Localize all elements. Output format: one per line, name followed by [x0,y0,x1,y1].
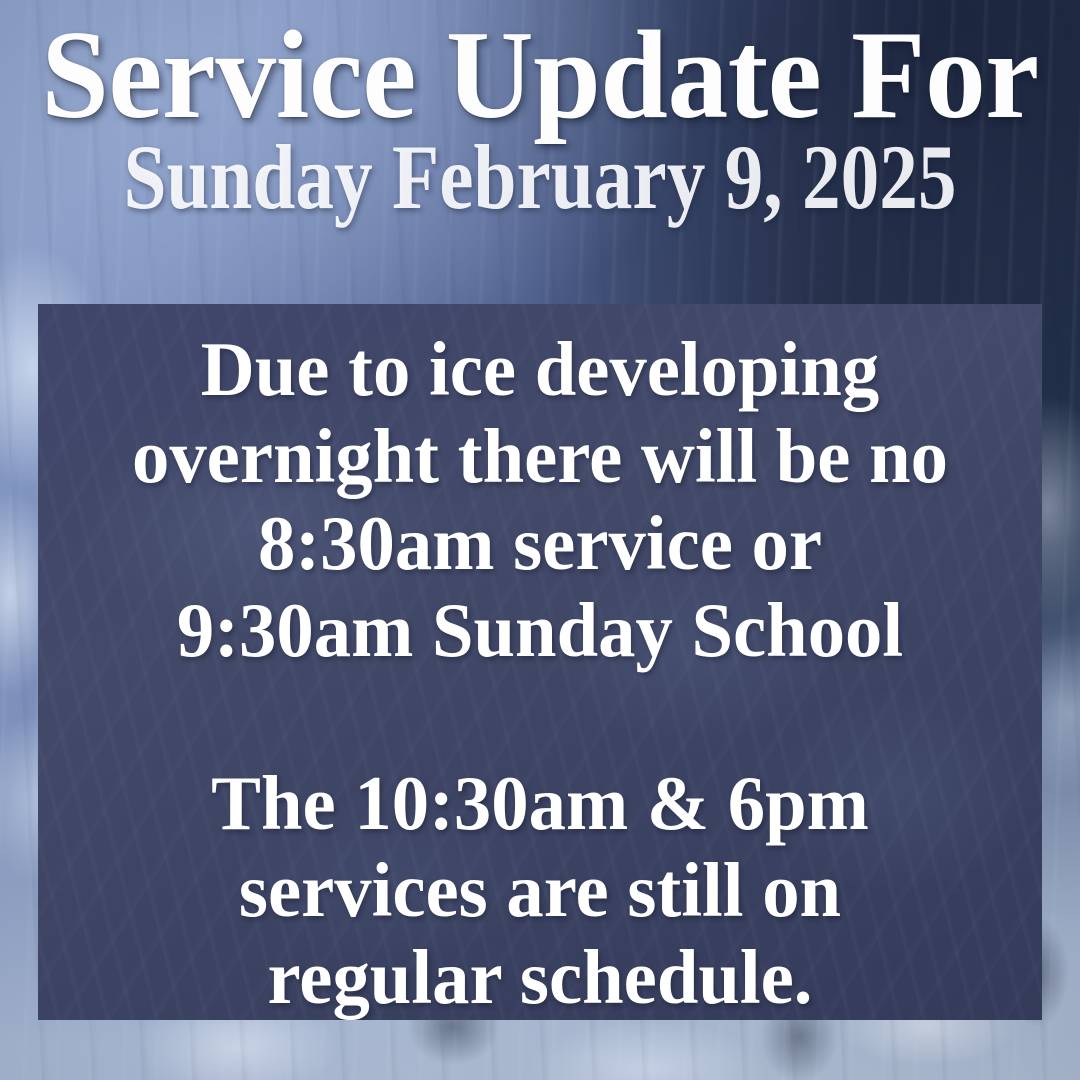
service-update-poster: Service Update For Sunday February 9, 20… [0,0,1080,1080]
heading-block: Service Update For Sunday February 9, 20… [0,0,1080,223]
page-title: Service Update For [19,0,1061,137]
message-line: regular schedule. [53,934,1027,1020]
message-paragraph-2: The 10:30am & 6pm services are still on … [38,760,1042,1020]
message-line: services are still on [53,847,1027,934]
message-line: The 10:30am & 6pm [53,760,1027,847]
message-line: 8:30am service or [53,500,1027,587]
message-body: Due to ice developing overnight there wi… [38,326,1042,1020]
message-panel: Due to ice developing overnight there wi… [38,304,1042,1020]
paragraph-spacer [38,674,1042,760]
message-line: 9:30am Sunday School [53,587,1027,674]
message-line: Due to ice developing [53,326,1027,413]
page-subtitle-date: Sunday February 9, 2025 [86,131,993,223]
message-line: overnight there will be no [53,413,1027,500]
message-paragraph-1: Due to ice developing overnight there wi… [38,326,1042,674]
